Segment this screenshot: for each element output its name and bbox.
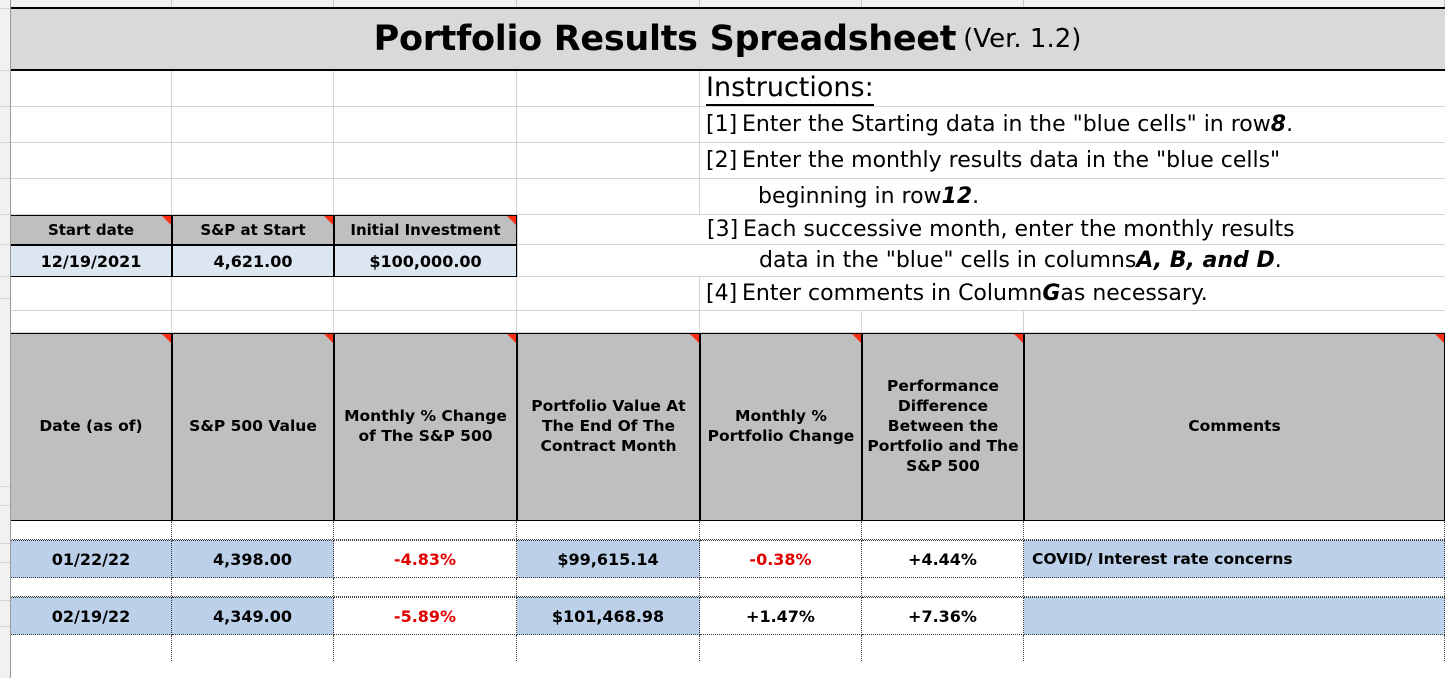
empty-cell[interactable] bbox=[700, 578, 862, 596]
column-header-performance-difference[interactable]: Performance Difference Between the Portf… bbox=[862, 333, 1024, 521]
column-header-sp500-value-label: S&P 500 Value bbox=[189, 417, 317, 437]
column-header-comments[interactable]: Comments bbox=[1024, 333, 1445, 521]
row-header[interactable] bbox=[0, 0, 10, 9]
row-header[interactable] bbox=[0, 277, 10, 299]
empty-cell[interactable] bbox=[172, 277, 334, 310]
spacer-row bbox=[10, 635, 1445, 661]
empty-cell[interactable] bbox=[10, 107, 172, 142]
empty-cell[interactable] bbox=[10, 179, 172, 214]
empty-cell[interactable] bbox=[334, 311, 517, 332]
instruction-item-3-continued: data in the "blue" cells in columns A, B… bbox=[517, 245, 1445, 277]
empty-cell[interactable] bbox=[10, 311, 172, 332]
cell-comments[interactable]: COVID/ Interest rate concerns bbox=[1024, 540, 1445, 578]
instruction-item-2-continued: beginning in row 12 . bbox=[700, 179, 1445, 214]
table-row: 02/19/22 4,349.00 -5.89% $101,468.98 +1.… bbox=[10, 597, 1445, 635]
instruction-item-4: [4] Enter comments in Column G as necess… bbox=[700, 277, 1445, 310]
instruction-item-1: [1] Enter the Starting data in the "blue… bbox=[700, 107, 1445, 142]
empty-cell[interactable] bbox=[700, 635, 862, 661]
instruction-row: [1] Enter the Starting data in the "blue… bbox=[10, 107, 1445, 143]
instruction-emphasis: G bbox=[1042, 281, 1060, 306]
comment-marker-icon bbox=[690, 334, 699, 343]
cell-comments-text: COVID/ Interest rate concerns bbox=[1032, 550, 1293, 568]
empty-cell[interactable] bbox=[334, 71, 517, 106]
cell-sp500-value[interactable]: 4,398.00 bbox=[172, 540, 334, 578]
cell-portfolio-value[interactable]: $101,468.98 bbox=[517, 597, 700, 635]
cell-date[interactable]: 02/19/22 bbox=[10, 597, 172, 635]
empty-cell[interactable] bbox=[517, 179, 700, 214]
empty-cell[interactable] bbox=[700, 521, 862, 539]
column-header-sp500-value[interactable]: S&P 500 Value bbox=[172, 333, 334, 521]
start-table-header-row: Start date S&P at Start Initial Investme… bbox=[10, 215, 1445, 245]
empty-cell[interactable] bbox=[10, 635, 172, 661]
row-header[interactable] bbox=[0, 215, 10, 245]
cell-sp500-change-text: -4.83% bbox=[394, 550, 456, 569]
comment-marker-icon bbox=[162, 216, 171, 225]
cell-sp500-value[interactable]: 4,349.00 bbox=[172, 597, 334, 635]
instruction-row: beginning in row 12 . bbox=[10, 179, 1445, 215]
cell-sp500-change-text: -5.89% bbox=[394, 607, 456, 626]
sp-at-start-header-label: S&P at Start bbox=[200, 221, 305, 239]
empty-cell[interactable] bbox=[172, 143, 334, 178]
empty-cell[interactable] bbox=[1024, 578, 1445, 596]
empty-cell[interactable] bbox=[517, 635, 700, 661]
empty-cell[interactable] bbox=[334, 143, 517, 178]
cell-performance-difference[interactable]: +7.36% bbox=[862, 597, 1024, 635]
instruction-item-2: [2] Enter the monthly results data in th… bbox=[700, 143, 1445, 178]
row-header[interactable] bbox=[0, 107, 10, 143]
instruction-number: [4] bbox=[706, 281, 742, 306]
initial-investment-value[interactable]: $100,000.00 bbox=[334, 245, 517, 277]
empty-cell[interactable] bbox=[862, 635, 1024, 661]
empty-cell[interactable] bbox=[1024, 311, 1445, 332]
comment-marker-icon bbox=[1014, 334, 1023, 343]
column-header-sp500-change-label: Monthly % Change of The S&P 500 bbox=[339, 407, 512, 447]
instructions-heading-text: Instructions: bbox=[706, 72, 874, 106]
empty-cell[interactable] bbox=[172, 311, 334, 332]
instruction-text-tail: as necessary. bbox=[1060, 281, 1207, 306]
instruction-emphasis: 8 bbox=[1271, 112, 1286, 137]
cell-sp500-change[interactable]: -5.89% bbox=[334, 597, 517, 635]
cell-portfolio-value-text: $101,468.98 bbox=[552, 607, 664, 626]
spacer-row bbox=[10, 578, 1445, 597]
sheet-grid: Portfolio Results Spreadsheet (Ver. 1.2)… bbox=[10, 9, 1445, 678]
instruction-text: data in the "blue" cells in columns bbox=[759, 248, 1136, 273]
initial-investment-header-label: Initial Investment bbox=[350, 221, 500, 239]
cell-portfolio-value-text: $99,615.14 bbox=[557, 550, 658, 569]
initial-investment-header: Initial Investment bbox=[334, 215, 517, 245]
cell-comments[interactable] bbox=[1024, 597, 1445, 635]
cell-sp500-change[interactable]: -4.83% bbox=[334, 540, 517, 578]
sp-at-start-value-text: 4,621.00 bbox=[214, 252, 293, 271]
spacer-row bbox=[10, 521, 1445, 540]
instruction-number: [2] bbox=[706, 148, 742, 173]
empty-cell[interactable] bbox=[862, 521, 1024, 539]
empty-cell[interactable] bbox=[862, 311, 1024, 332]
cell-date-text: 01/22/22 bbox=[52, 550, 130, 569]
row-header[interactable] bbox=[0, 544, 10, 563]
row-header[interactable] bbox=[0, 71, 10, 107]
empty-cell[interactable] bbox=[334, 277, 517, 310]
column-header-date-label: Date (as of) bbox=[39, 417, 142, 437]
row-header[interactable] bbox=[0, 563, 10, 601]
empty-cell[interactable] bbox=[10, 578, 172, 596]
empty-cell[interactable] bbox=[517, 277, 700, 310]
column-header-portfolio-value[interactable]: Portfolio Value At The End Of The Contra… bbox=[517, 333, 700, 521]
column-header-comments-label: Comments bbox=[1188, 417, 1281, 437]
table-row: 01/22/22 4,398.00 -4.83% $99,615.14 -0.3… bbox=[10, 540, 1445, 578]
empty-cell[interactable] bbox=[10, 143, 172, 178]
cell-portfolio-change[interactable]: -0.38% bbox=[700, 540, 862, 578]
instructions-heading: Instructions: bbox=[700, 71, 1445, 106]
instruction-text-tail: . bbox=[1275, 248, 1282, 273]
cell-performance-difference[interactable]: +4.44% bbox=[862, 540, 1024, 578]
instruction-text-tail: . bbox=[972, 184, 979, 209]
start-date-header: Start date bbox=[10, 215, 172, 245]
empty-cell[interactable] bbox=[517, 143, 700, 178]
instruction-text: Enter the Starting data in the "blue cel… bbox=[742, 112, 1271, 137]
empty-cell[interactable] bbox=[10, 71, 172, 106]
empty-cell[interactable] bbox=[334, 107, 517, 142]
cell-sp500-value-text: 4,349.00 bbox=[213, 607, 292, 626]
instruction-number: [3] bbox=[707, 217, 743, 242]
page-title: Portfolio Results Spreadsheet (Ver. 1.2) bbox=[10, 9, 1445, 69]
cell-performance-difference-text: +4.44% bbox=[908, 550, 977, 569]
row-header-gutter[interactable] bbox=[0, 0, 11, 678]
instruction-text: Enter comments in Column bbox=[742, 281, 1042, 306]
empty-cell[interactable] bbox=[172, 71, 334, 106]
main-table-header-row: Date (as of) S&P 500 Value Monthly % Cha… bbox=[10, 333, 1445, 521]
sp-at-start-value[interactable]: 4,621.00 bbox=[172, 245, 334, 277]
empty-cell[interactable] bbox=[517, 71, 700, 106]
column-header-portfolio-change[interactable]: Monthly % Portfolio Change bbox=[700, 333, 862, 521]
empty-cell[interactable] bbox=[172, 635, 334, 661]
comment-marker-icon bbox=[852, 334, 861, 343]
instruction-text: Enter the monthly results data in the "b… bbox=[742, 148, 1280, 173]
empty-cell[interactable] bbox=[172, 521, 334, 539]
comment-marker-icon bbox=[1435, 334, 1444, 343]
start-date-value[interactable]: 12/19/2021 bbox=[10, 245, 172, 277]
comment-marker-icon bbox=[507, 334, 516, 343]
empty-cell[interactable] bbox=[10, 277, 172, 310]
cell-portfolio-change-text: +1.47% bbox=[746, 607, 815, 626]
cell-date-text: 02/19/22 bbox=[52, 607, 130, 626]
row-header[interactable] bbox=[0, 487, 10, 506]
empty-cell[interactable] bbox=[517, 311, 700, 332]
spacer-row bbox=[10, 311, 1445, 333]
instructions-heading-row: Instructions: bbox=[10, 71, 1445, 107]
cell-sp500-value-text: 4,398.00 bbox=[213, 550, 292, 569]
empty-cell[interactable] bbox=[172, 578, 334, 596]
comment-marker-icon bbox=[162, 334, 171, 343]
instruction-text-tail: . bbox=[1286, 112, 1293, 137]
empty-cell[interactable] bbox=[334, 179, 517, 214]
column-header-portfolio-change-label: Monthly % Portfolio Change bbox=[705, 407, 857, 447]
title-row: Portfolio Results Spreadsheet (Ver. 1.2) bbox=[10, 9, 1445, 71]
cell-date[interactable]: 01/22/22 bbox=[10, 540, 172, 578]
empty-cell[interactable] bbox=[862, 578, 1024, 596]
instruction-row: [4] Enter comments in Column G as necess… bbox=[10, 277, 1445, 311]
cell-portfolio-value[interactable]: $99,615.14 bbox=[517, 540, 700, 578]
row-header[interactable] bbox=[0, 245, 10, 277]
clipped-top-row bbox=[10, 0, 1445, 9]
instruction-number: [1] bbox=[706, 112, 742, 137]
cell-performance-difference-text: +7.36% bbox=[908, 607, 977, 626]
spreadsheet-canvas: Portfolio Results Spreadsheet (Ver. 1.2)… bbox=[0, 0, 1445, 678]
empty-cell[interactable] bbox=[1024, 635, 1445, 661]
instruction-text: beginning in row bbox=[758, 184, 942, 209]
page-title-text: Portfolio Results Spreadsheet bbox=[374, 19, 957, 59]
instruction-emphasis: 12 bbox=[942, 184, 973, 209]
empty-cell[interactable] bbox=[172, 179, 334, 214]
row-header[interactable] bbox=[0, 143, 10, 179]
empty-cell[interactable] bbox=[1024, 521, 1445, 539]
column-header-performance-difference-label: Performance Difference Between the Portf… bbox=[867, 377, 1019, 476]
comment-marker-icon bbox=[324, 334, 333, 343]
initial-investment-value-text: $100,000.00 bbox=[369, 252, 481, 271]
row-header[interactable] bbox=[0, 299, 10, 487]
row-header[interactable] bbox=[0, 506, 10, 544]
column-header-sp500-change[interactable]: Monthly % Change of The S&P 500 bbox=[334, 333, 517, 521]
column-header-portfolio-value-label: Portfolio Value At The End Of The Contra… bbox=[522, 397, 695, 456]
row-header[interactable] bbox=[0, 179, 10, 215]
cell-portfolio-change-text: -0.38% bbox=[749, 550, 811, 569]
comment-marker-icon bbox=[507, 216, 516, 225]
empty-cell[interactable] bbox=[172, 107, 334, 142]
instruction-emphasis: A, B, and D bbox=[1136, 248, 1274, 273]
empty-cell[interactable] bbox=[334, 635, 517, 661]
instruction-text: Each successive month, enter the monthly… bbox=[743, 217, 1295, 242]
start-date-value-text: 12/19/2021 bbox=[41, 252, 142, 271]
sp-at-start-header: S&P at Start bbox=[172, 215, 334, 245]
comment-marker-icon bbox=[324, 216, 333, 225]
start-table-value-row: 12/19/2021 4,621.00 $100,000.00 data in … bbox=[10, 245, 1445, 277]
instruction-row: [2] Enter the monthly results data in th… bbox=[10, 143, 1445, 179]
empty-cell[interactable] bbox=[517, 578, 700, 596]
empty-cell[interactable] bbox=[700, 311, 862, 332]
instruction-item-3: [3] Each successive month, enter the mon… bbox=[517, 215, 1445, 245]
column-header-date[interactable]: Date (as of) bbox=[10, 333, 172, 521]
row-header[interactable] bbox=[0, 9, 10, 71]
cell-portfolio-change[interactable]: +1.47% bbox=[700, 597, 862, 635]
empty-cell[interactable] bbox=[517, 521, 700, 539]
row-header[interactable] bbox=[0, 601, 10, 627]
empty-cell[interactable] bbox=[334, 578, 517, 596]
empty-cell[interactable] bbox=[517, 107, 700, 142]
empty-cell[interactable] bbox=[334, 521, 517, 539]
start-date-header-label: Start date bbox=[48, 221, 134, 239]
empty-cell[interactable] bbox=[10, 521, 172, 539]
page-title-version: (Ver. 1.2) bbox=[963, 24, 1081, 54]
